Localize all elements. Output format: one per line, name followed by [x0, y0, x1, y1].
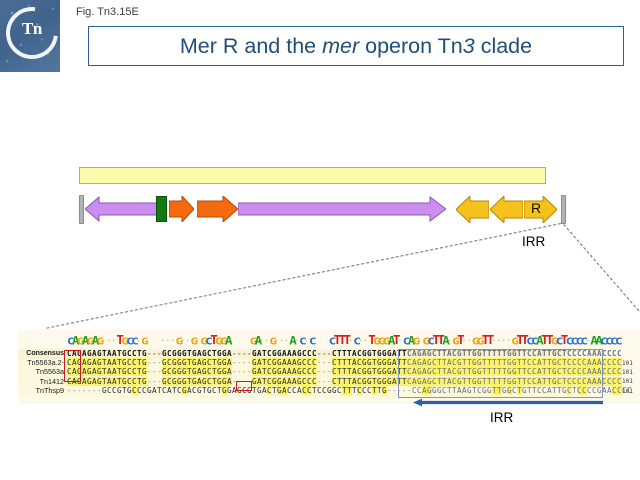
row-label-tn5563a: Tn5563a — [18, 367, 66, 376]
irr-label-top: IRR — [522, 234, 545, 249]
row-label-tn5563a2: Tn5563a.2- — [18, 358, 66, 367]
backbone-bar — [79, 167, 546, 184]
position-number-1: 101 — [622, 359, 633, 368]
sequence-logo: CAGAGAG...TGCC.G ...G..G.GCTGGA GA..G...… — [67, 332, 620, 347]
irr-label-bottom: IRR — [490, 410, 513, 425]
redbox-taa-motif — [64, 350, 81, 382]
redbox-tga-motif — [236, 381, 252, 391]
row-label-tn1412: Tn1412 — [18, 377, 66, 386]
position-number-4: 101 — [622, 387, 633, 396]
gene-arrow-merd — [456, 196, 489, 223]
gene-arrow-tnpr — [197, 196, 238, 222]
gene-arrow-mer-operon — [238, 195, 446, 223]
gene-arrow-mere — [490, 196, 523, 223]
row-label-consensus: Consensus — [18, 349, 66, 358]
leader-line-left — [46, 223, 561, 329]
irr-region-box — [398, 349, 603, 398]
irl-bar — [79, 195, 84, 224]
row-label-tnthsp9: TnThsp9 — [18, 386, 66, 395]
gene-arrow-tnpa — [85, 195, 157, 223]
position-number-2: 101 — [622, 368, 633, 377]
irr-bar — [561, 195, 566, 224]
transposon-map: R IRR — [0, 0, 640, 480]
leader-line-right — [563, 224, 640, 327]
position-number-3: 101 — [622, 377, 633, 386]
irr-direction-arrow — [413, 398, 603, 407]
row-label-column: Consensus Tn5563a.2- Tn5563a Tn1412 TnTh… — [18, 349, 66, 395]
merr-label: R — [531, 200, 541, 216]
res-site-box — [156, 196, 167, 222]
gene-arrow-tnpr-small — [169, 196, 194, 222]
